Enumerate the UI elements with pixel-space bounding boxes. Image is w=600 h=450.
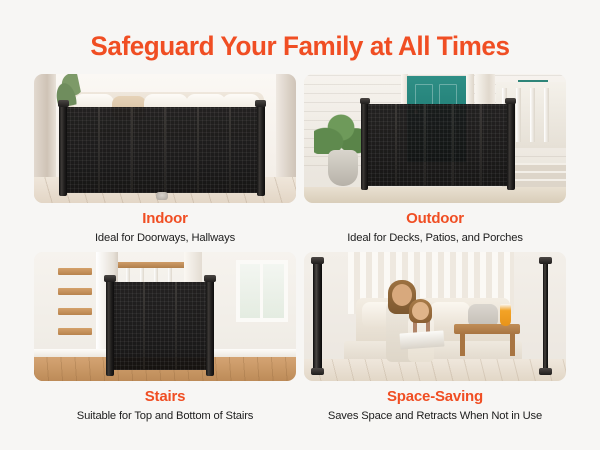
feature-title-indoor: Indoor xyxy=(34,209,296,228)
stairs-handrail xyxy=(114,262,186,268)
coffee-table-leg xyxy=(460,334,465,356)
gate-mount-top-left xyxy=(104,275,116,282)
juice-glass xyxy=(500,304,511,326)
feature-caption-space-saving: Space-Saving Saves Space and Retracts Wh… xyxy=(304,381,566,425)
outdoor-planter-pot xyxy=(328,150,358,186)
page-title: Safeguard Your Family at All Times xyxy=(5,31,596,62)
feature-subtitle-space-saving: Saves Space and Retracts When Not in Use xyxy=(304,406,566,425)
outdoor-deck-floor xyxy=(304,187,566,203)
feature-caption-indoor: Indoor Ideal for Doorways, Hallways xyxy=(34,203,296,247)
gate-post-right xyxy=(206,277,214,376)
feature-caption-stairs: Stairs Suitable for Top and Bottom of St… xyxy=(34,381,296,425)
stair-tread xyxy=(58,288,92,295)
gate-mesh-panel xyxy=(66,107,261,193)
gate-mount-top-left xyxy=(360,98,370,104)
coffee-table xyxy=(454,324,520,334)
feature-image-stairs xyxy=(34,252,296,381)
indoor-scene xyxy=(34,74,296,203)
feature-card-outdoor[interactable]: Outdoor Ideal for Decks, Patios, and Por… xyxy=(304,74,566,247)
stairs-scene xyxy=(34,252,296,381)
feature-subtitle-indoor: Ideal for Doorways, Hallways xyxy=(34,228,296,247)
promo-page: Safeguard Your Family at All Times xyxy=(0,0,600,450)
gate-mount-top-right xyxy=(505,98,516,104)
feature-card-space-saving[interactable]: Space-Saving Saves Space and Retracts Wh… xyxy=(304,252,566,425)
feature-subtitle-outdoor: Ideal for Decks, Patios, and Porches xyxy=(304,228,566,247)
gate-post-right xyxy=(507,100,515,190)
gate-post-right xyxy=(257,102,265,196)
gate-post-left xyxy=(59,102,67,196)
outdoor-baluster xyxy=(544,88,549,142)
stair-tread xyxy=(58,328,92,335)
outdoor-baluster xyxy=(530,88,535,142)
feature-title-space-saving: Space-Saving xyxy=(304,387,566,406)
gate-mesh-panel xyxy=(112,282,208,370)
outdoor-baluster xyxy=(516,88,521,142)
feature-card-indoor[interactable]: Indoor Ideal for Doorways, Hallways xyxy=(34,74,296,247)
feature-image-space-saving xyxy=(304,252,566,381)
feature-image-outdoor xyxy=(304,74,566,203)
outdoor-scene xyxy=(304,74,566,203)
feature-title-outdoor: Outdoor xyxy=(304,209,566,228)
feature-image-indoor xyxy=(34,74,296,203)
feature-title-stairs: Stairs xyxy=(34,387,296,406)
feature-grid: Indoor Ideal for Doorways, Hallways xyxy=(34,74,566,425)
stairs-window-mullion xyxy=(260,260,263,322)
gate-mount-top-right xyxy=(255,100,266,107)
stair-tread xyxy=(58,308,92,315)
feature-caption-outdoor: Outdoor Ideal for Decks, Patios, and Por… xyxy=(304,203,566,247)
coffee-table-leg xyxy=(510,334,515,356)
gate-mesh-panel xyxy=(367,104,509,186)
outdoor-potted-fern xyxy=(314,110,366,154)
space-saving-scene xyxy=(304,252,566,381)
feature-subtitle-stairs: Suitable for Top and Bottom of Stairs xyxy=(34,406,296,425)
stair-tread xyxy=(58,268,92,275)
feature-card-stairs[interactable]: Stairs Suitable for Top and Bottom of St… xyxy=(34,252,296,425)
gate-mount-top-right xyxy=(204,275,216,282)
mother-face xyxy=(392,284,412,306)
indoor-floor-bracket xyxy=(156,192,168,200)
living-room-floor xyxy=(304,359,566,381)
open-book xyxy=(399,330,444,349)
gate-mount-top-left xyxy=(58,100,69,107)
gate-post-left xyxy=(361,100,368,190)
gate-post-right xyxy=(543,260,548,372)
gate-retracted-housing xyxy=(313,260,322,372)
child-face xyxy=(412,302,429,320)
gate-post-left xyxy=(106,277,114,376)
